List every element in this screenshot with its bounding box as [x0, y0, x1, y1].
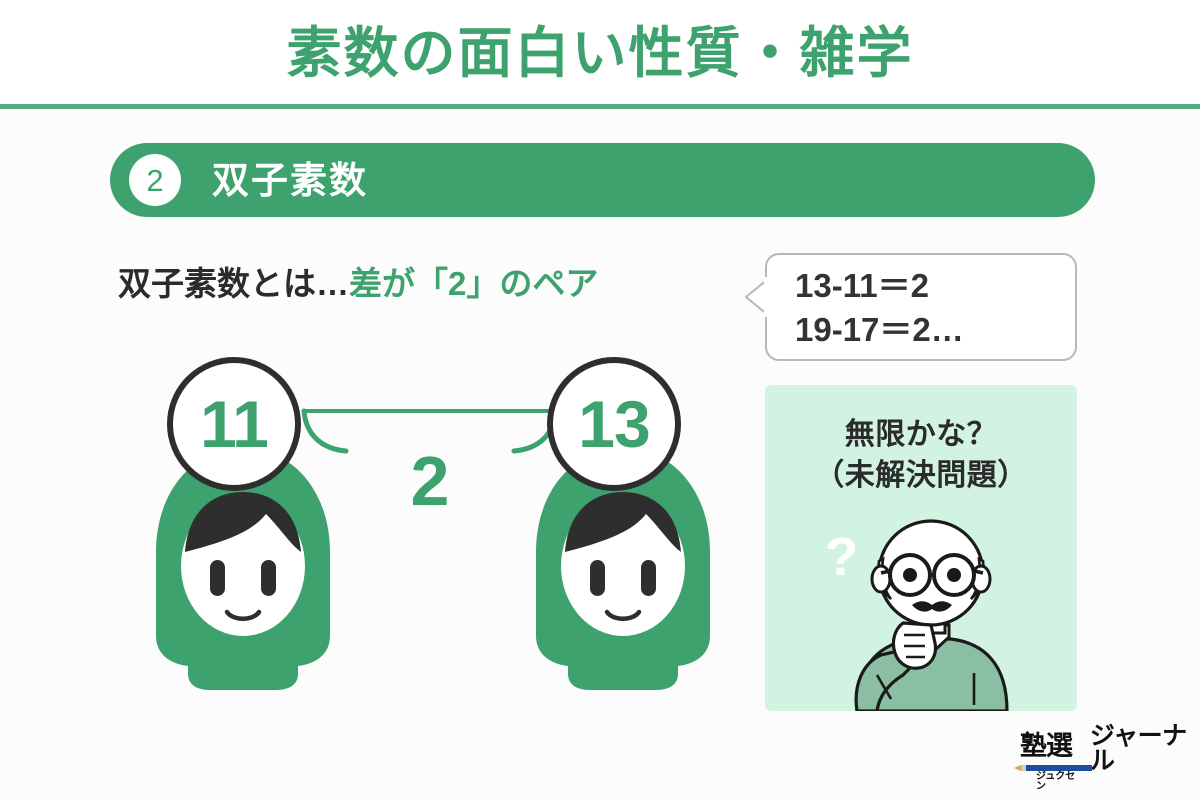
gap-bracket-icon [300, 405, 560, 465]
section-header-bar: 2 双子素数 [110, 143, 1095, 217]
speech-bubble-tail-icon [744, 277, 768, 317]
callout-text: 無限かな？ （未解決問題） [765, 414, 1077, 497]
example-speech-bubble: 13-11＝2 19-17＝2… [765, 253, 1077, 361]
prime-number-left: 11 [200, 391, 268, 457]
brand-logo: 塾選 ジュクセン ジャーナル [1014, 733, 1200, 783]
definition-accent: 差が「2」のペア [349, 265, 598, 302]
title-band: 素数の面白い性質・雑学 [0, 0, 1200, 106]
prime-number-circle-right: 13 [547, 357, 681, 491]
page-title: 素数の面白い性質・雑学 [286, 26, 913, 81]
bubble-line-2: 19-17＝2… [795, 308, 1075, 352]
prime-number-circle-left: 11 [167, 357, 301, 491]
section-number-badge: 2 [129, 154, 181, 206]
callout-line-2: （未解決問題） [765, 455, 1077, 496]
question-mark-icon: ? [825, 527, 858, 587]
definition-line: 双子素数とは…差が「2」のペア [118, 264, 598, 304]
thinking-old-man-illustration: ? [811, 513, 1031, 711]
logo-kanji: 塾選 [1020, 733, 1072, 760]
section-heading: 双子素数 [212, 162, 368, 199]
logo-mark: 塾選 ジュクセン [1014, 733, 1085, 783]
twin-prime-figure-area: 11 13 2 [120, 350, 740, 690]
open-question-callout: 無限かな？ （未解決問題） ? [765, 385, 1077, 711]
svg-text:?: ? [825, 527, 858, 587]
bubble-line-1: 13-11＝2 [795, 264, 1075, 308]
slide-root: 素数の面白い性質・雑学 2 双子素数 双子素数とは…差が「2」のペア 13-11… [0, 0, 1200, 800]
prime-number-right: 13 [578, 391, 649, 457]
logo-kana: ジュクセン [1036, 772, 1085, 792]
definition-lead: 双子素数とは… [118, 265, 349, 302]
logo-word: ジャーナル [1090, 724, 1200, 783]
callout-line-1: 無限かな？ [765, 414, 1077, 455]
